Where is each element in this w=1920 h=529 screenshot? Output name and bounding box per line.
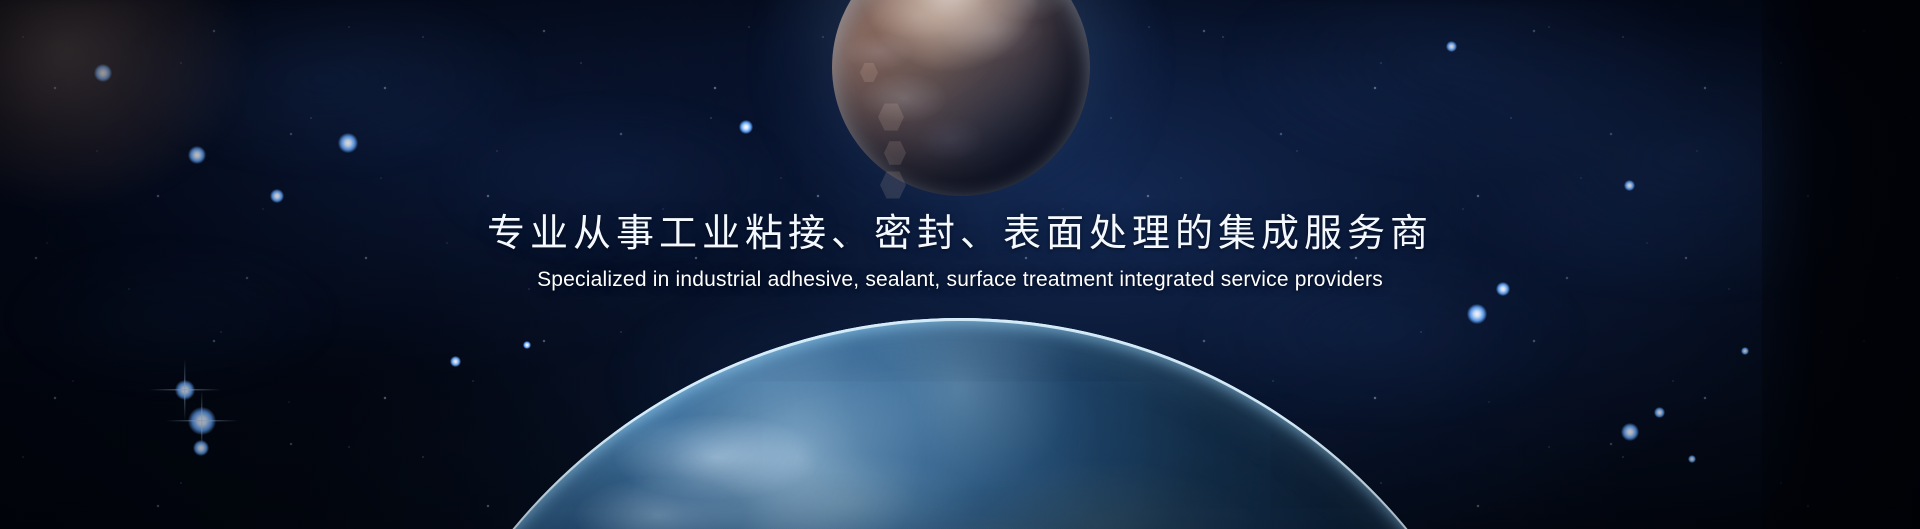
hero-subheadline-english: Specialized in industrial adhesive, seal… xyxy=(0,268,1920,292)
hero-headline-chinese: 专业从事工业粘接、密封、表面处理的集成服务商 xyxy=(0,212,1920,256)
hero-banner: 专业从事工业粘接、密封、表面处理的集成服务商 Specialized in in… xyxy=(0,0,1920,529)
earth-planet xyxy=(380,318,1540,529)
hero-copy-block: 专业从事工业粘接、密封、表面处理的集成服务商 Specialized in in… xyxy=(0,212,1920,292)
moon-planet xyxy=(832,0,1090,196)
